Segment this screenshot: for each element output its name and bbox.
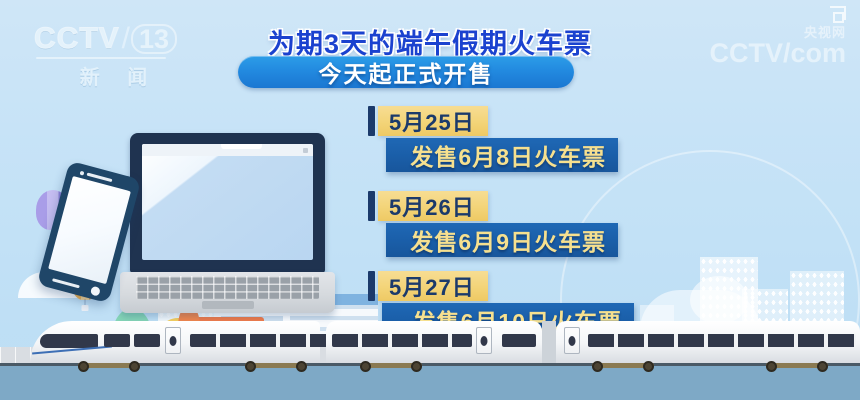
train-window xyxy=(134,334,160,347)
laptop-screen xyxy=(142,144,313,260)
train-wheel xyxy=(766,361,777,372)
train-locomotive xyxy=(30,321,320,363)
row-accent-tab xyxy=(368,191,375,221)
laptop-keyboard xyxy=(136,276,319,299)
sale-date-label: 5月25日 xyxy=(389,105,475,137)
screen-toolbar-dot-icon xyxy=(303,148,308,153)
train-bogie xyxy=(78,361,140,372)
schedule-row: 5月26日 发售6月9日火车票 xyxy=(368,191,628,257)
train-wheel xyxy=(817,361,828,372)
train-door-handle xyxy=(170,336,177,346)
train-window-strip xyxy=(190,334,338,347)
train-window-strip xyxy=(588,334,856,347)
train-bogie xyxy=(245,361,307,372)
sale-date-bar: 5月25日 xyxy=(378,106,488,136)
train-door xyxy=(476,327,492,354)
phone-bottom-bar xyxy=(52,278,80,288)
ticket-info-bar: 发售6月8日火车票 xyxy=(386,138,618,172)
ticket-info-label: 发售6月8日火车票 xyxy=(410,138,606,172)
train-bogie xyxy=(592,361,654,372)
laptop-base xyxy=(120,272,335,313)
laptop-trackpad xyxy=(202,301,254,309)
train-door-handle xyxy=(481,336,488,346)
schedule-row: 5月25日 发售6月8日火车票 xyxy=(368,106,628,172)
phone-screen xyxy=(48,176,131,284)
channel-subtitle: 新 闻 xyxy=(34,61,204,90)
sale-date-label: 5月27日 xyxy=(389,270,475,302)
headline-subtitle-banner: 今天起正式开售 xyxy=(238,56,574,88)
train-wheel xyxy=(411,361,422,372)
train-bogie xyxy=(766,361,828,372)
screen-browser-tab xyxy=(221,144,262,149)
row-accent-tab xyxy=(368,271,375,301)
ticket-info-label: 发售6月9日火车票 xyxy=(410,223,606,257)
train-door xyxy=(165,327,181,354)
train-window xyxy=(104,334,130,347)
train-bogie xyxy=(360,361,422,372)
sale-date-bar: 5月27日 xyxy=(378,271,488,301)
train-wheel xyxy=(592,361,603,372)
train-window-strip xyxy=(332,334,472,347)
sale-date-label: 5月26日 xyxy=(389,190,475,222)
train-wheel xyxy=(643,361,654,372)
train-wheel xyxy=(129,361,140,372)
train-wheel xyxy=(360,361,371,372)
phone-camera-icon xyxy=(80,170,85,175)
recording-corner-icon xyxy=(830,6,846,20)
balloon-basket xyxy=(82,305,89,311)
laptop-lid xyxy=(130,133,325,273)
train-car xyxy=(326,321,542,363)
sale-date-bar: 5月26日 xyxy=(378,191,488,221)
headline-subtitle: 今天起正式开售 xyxy=(319,55,494,89)
row-accent-tab xyxy=(368,106,375,136)
train-car xyxy=(556,321,860,363)
phone-home-button xyxy=(90,285,101,296)
high-speed-train-illustration xyxy=(0,317,860,363)
train-wheel xyxy=(245,361,256,372)
train-window xyxy=(502,334,536,347)
train-door-handle xyxy=(569,336,576,346)
laptop-illustration xyxy=(120,133,335,313)
train-door xyxy=(564,327,580,354)
news-graphic-canvas: CCTV / 13 新 闻 央视网 CCTV/com 为期3天的端午假期火车票 … xyxy=(0,0,860,400)
train-nose-window xyxy=(40,334,98,348)
train-wheel xyxy=(78,361,89,372)
ticket-info-bar: 发售6月9日火车票 xyxy=(386,223,618,257)
train-wheel xyxy=(296,361,307,372)
train-car-connector xyxy=(542,321,556,363)
